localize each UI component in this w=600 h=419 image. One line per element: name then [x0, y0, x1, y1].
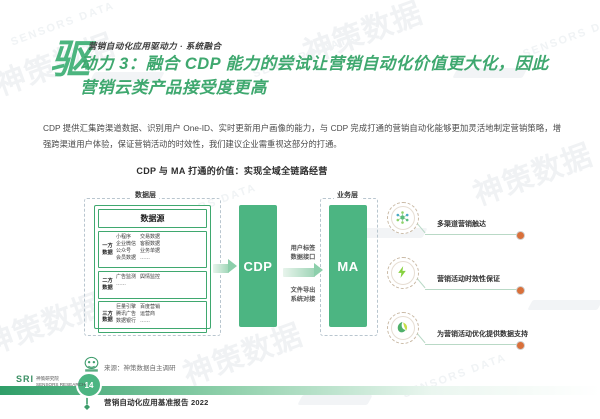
lightning-bolt-icon [387, 257, 417, 287]
data-source-column: 交易数据 客服数据 业务单据 …… [140, 234, 160, 265]
sri-logo-subtitle: 神策研究院 SENSORS RESEARCH [36, 376, 85, 388]
data-source-item: 舆情监控 [140, 274, 160, 281]
slide-page: 神策数据 神策数据 神策数据 神策数据 神策数据 SENSORS DATA SE… [0, 0, 600, 419]
leaf-pie-icon [387, 312, 417, 342]
data-source-column: 巨量引擎 腾讯广告 数据银行 [116, 304, 136, 330]
diagram-title: CDP 与 MA 打通的价值：实现全域全链路经营 [32, 164, 432, 177]
data-source-item: 运营商 [140, 311, 160, 318]
footer-report-title: 营销自动化应用基准报告 2022 [104, 397, 208, 408]
data-source-item: …… [140, 318, 160, 325]
data-source-tag: 三方数据 [101, 304, 114, 330]
data-source-header: 数据源 [98, 209, 207, 228]
data-source-item: 企业微信 [116, 241, 136, 248]
data-source-row: 二方数据 广告监测 …… 舆情监控 [98, 271, 207, 299]
data-source-column: 小程序 企业微信 公众号 会员数据 [116, 234, 136, 265]
body-paragraph: CDP 提供汇集跨渠道数据、识别用户 One-ID、实时更新用户画像的能力，与 … [43, 120, 561, 152]
diagram: CDP 与 MA 打通的价值：实现全域全链路经营 数据层 业务层 数据源 一方数… [32, 160, 568, 350]
data-source-item: 广告监测 [116, 274, 136, 281]
data-source-row: 一方数据 小程序 企业微信 公众号 会员数据 交易数据 客服数据 业务单据 …… [98, 231, 207, 268]
section-eyebrow: 营销自动化应用驱动力 · 系统融合 [88, 40, 221, 52]
ma-box: MA [329, 205, 367, 327]
mascot-icon [82, 355, 101, 374]
data-source-card: 数据源 一方数据 小程序 企业微信 公众号 会员数据 交易数据 客服数据 业务单… [94, 205, 211, 329]
benefit-label: 营销活动时效性保证 [437, 274, 500, 284]
benefit-label: 为营销活动优化提供数据支持 [437, 329, 528, 339]
benefit-endpoint-dot [516, 341, 525, 350]
page-title-line-2: 营销云类产品接受度更高 [80, 77, 585, 101]
connector-label-bottom: 文件导出 系统对接 [280, 286, 326, 305]
data-source-tag: 一方数据 [101, 234, 114, 265]
data-layer-label: 数据层 [132, 190, 159, 200]
cdp-box: CDP [239, 205, 277, 327]
sri-logo-sub-en: SENSORS RESEARCH [36, 382, 85, 388]
connector-label-top: 用户标签 数据接口 [280, 244, 326, 263]
data-source-items: 巨量引擎 腾讯广告 数据银行 百度营销 运营商 …… [114, 304, 204, 330]
benefit-label: 多渠道营销触达 [437, 219, 486, 229]
page-title: 动力 3：融合 CDP 能力的尝试让营销自动化价值更大化，因此 营销云类产品接受… [80, 53, 585, 101]
benefit-endpoint-dot [516, 286, 525, 295]
data-source-column: 百度营销 运营商 …… [140, 304, 160, 330]
data-source-row: 三方数据 巨量引擎 腾讯广告 数据银行 百度营销 运营商 …… [98, 301, 207, 333]
data-source-item: …… [116, 281, 136, 288]
data-source-items: 广告监测 …… 舆情监控 [114, 274, 204, 296]
source-note: 来源：神策数据自主调研 [104, 362, 176, 372]
data-source-item: …… [140, 255, 160, 262]
sri-logo: SRI [16, 374, 34, 384]
data-source-item: 业务单据 [140, 248, 160, 255]
data-source-tag: 二方数据 [101, 274, 114, 296]
watermark-slash [297, 395, 372, 405]
data-source-item: 会员数据 [116, 255, 136, 262]
data-source-item: 数据银行 [116, 318, 136, 325]
benefit-endpoint-dot [516, 231, 525, 240]
data-source-items: 小程序 企业微信 公众号 会员数据 交易数据 客服数据 业务单据 …… [114, 234, 204, 265]
business-layer-label: 业务层 [334, 190, 361, 200]
data-source-column: 广告监测 …… [116, 274, 136, 296]
data-source-column: 舆情监控 [140, 274, 160, 296]
page-title-line-1: 动力 3：融合 CDP 能力的尝试让营销自动化价值更大化，因此 [80, 55, 549, 73]
network-node-icon [387, 202, 417, 232]
